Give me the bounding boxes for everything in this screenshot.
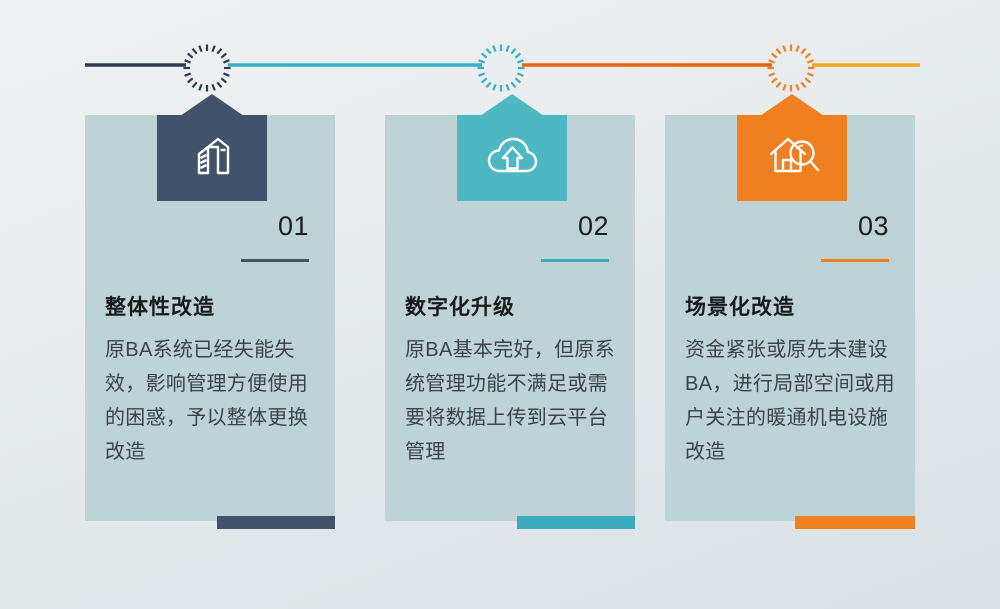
card-3-pointer	[760, 94, 824, 116]
cloud-upload-icon	[484, 130, 540, 187]
building-icon	[186, 130, 238, 187]
card-3-number: 03	[858, 213, 889, 240]
house-search-icon	[764, 130, 820, 187]
timeline-marker-1[interactable]	[184, 45, 231, 92]
radial-tick-ring-icon	[478, 45, 525, 92]
card-3-headline: 场景化改造	[685, 291, 897, 321]
card-1-number: 01	[278, 213, 309, 240]
card-1-body: 原BA系统已经失能失效，影响管理方便使用的困惑，予以整体更换改造	[105, 333, 321, 469]
card-1-accent-bar	[217, 516, 335, 529]
card-3[interactable]: 03 场景化改造 资金紧张或原先未建设BA，进行局部空间或用户关注的暖通机电设施…	[665, 115, 915, 521]
card-2-headline: 数字化升级	[405, 291, 617, 321]
card-1[interactable]: 01 整体性改造 原BA系统已经失能失效，影响管理方便使用的困惑，予以整体更换改…	[85, 115, 335, 521]
card-2-icon-box	[457, 115, 567, 201]
card-1-headline: 整体性改造	[105, 291, 317, 321]
timeline-marker-2[interactable]	[478, 45, 525, 92]
timeline-marker-3[interactable]	[768, 45, 815, 92]
card-3-accent-bar	[795, 516, 915, 529]
card-2-number-rule	[541, 259, 609, 262]
card-2-pointer	[480, 94, 544, 116]
card-1-number-rule	[241, 259, 309, 262]
card-3-icon-box	[737, 115, 847, 201]
card-2-accent-bar	[517, 516, 635, 529]
card-3-body: 资金紧张或原先未建设BA，进行局部空间或用户关注的暖通机电设施改造	[685, 333, 901, 469]
radial-tick-ring-icon	[184, 45, 231, 92]
radial-tick-ring-icon	[768, 45, 815, 92]
card-1-pointer	[180, 94, 244, 116]
card-2[interactable]: 02 数字化升级 原BA基本完好，但原系统管理功能不满足或需要将数据上传到云平台…	[385, 115, 635, 521]
card-3-number-rule	[821, 259, 889, 262]
card-1-icon-box	[157, 115, 267, 201]
card-2-body: 原BA基本完好，但原系统管理功能不满足或需要将数据上传到云平台管理	[405, 333, 621, 469]
card-2-number: 02	[578, 213, 609, 240]
